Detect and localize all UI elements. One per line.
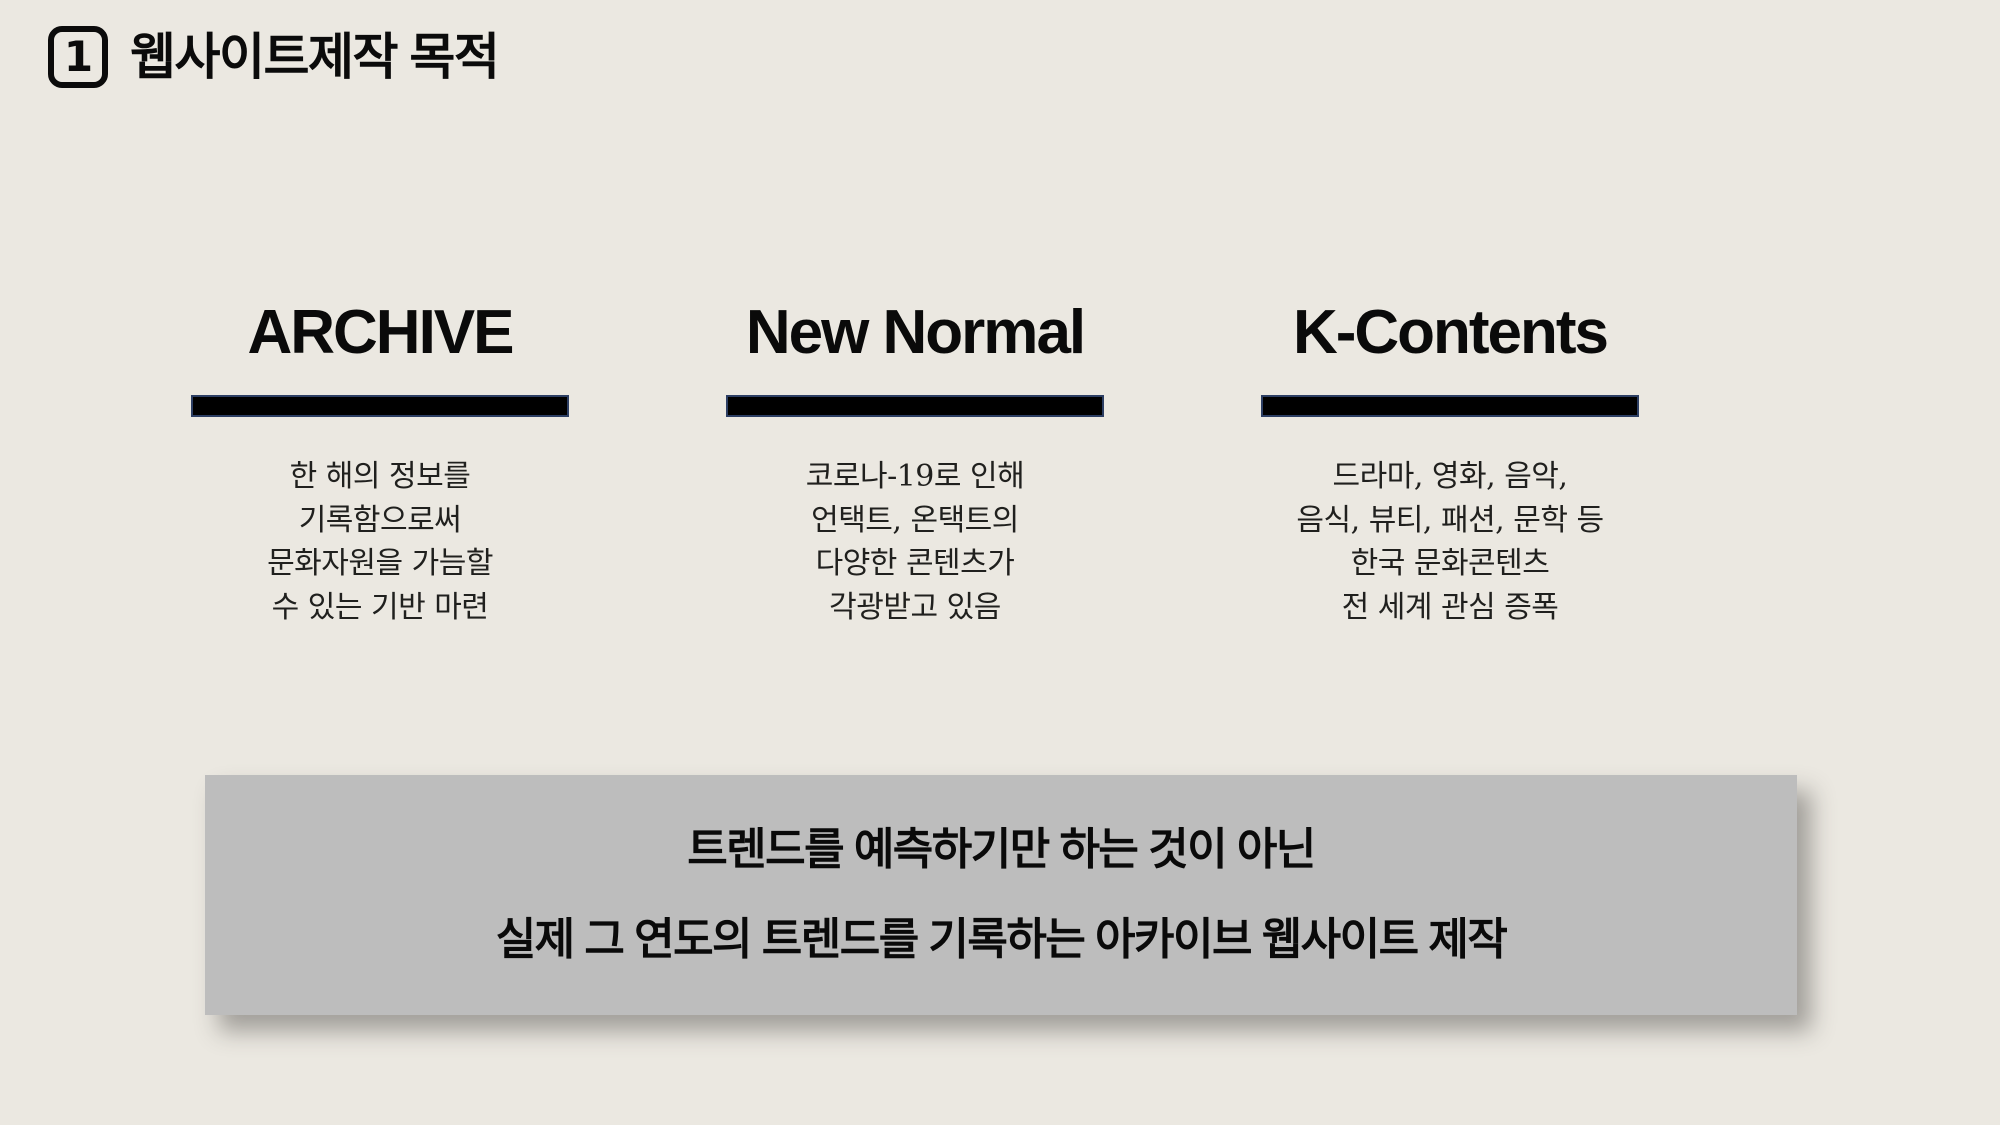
pillar-title: ARCHIVE (247, 300, 512, 365)
pillar-description: 코로나-19로 인해 언택트, 온택트의 다양한 콘텐츠가 각광받고 있음 (806, 455, 1024, 629)
conclusion-banner: 트렌드를 예측하기만 하는 것이 아닌 실제 그 연도의 트렌드를 기록하는 아… (205, 775, 1797, 1015)
slide-header: 1 웹사이트제작 목적 (48, 26, 498, 88)
step-number-label: 1 (64, 36, 92, 78)
page-title: 웹사이트제작 목적 (130, 30, 498, 85)
pillar-description: 드라마, 영화, 음악, 음식, 뷰티, 패션, 문학 등 한국 문화콘텐츠 전… (1296, 455, 1603, 629)
pillar-columns: ARCHIVE 한 해의 정보를 기록함으로써 문화자원을 가늠할 수 있는 기… (170, 300, 1660, 629)
step-number-badge: 1 (48, 26, 108, 88)
pillar-description: 한 해의 정보를 기록함으로써 문화자원을 가늠할 수 있는 기반 마련 (267, 455, 493, 629)
pillar-underline-bar (726, 395, 1104, 417)
conclusion-line-2: 실제 그 연도의 트렌드를 기록하는 아카이브 웹사이트 제작 (496, 916, 1507, 964)
pillar-new-normal: New Normal 코로나-19로 인해 언택트, 온택트의 다양한 콘텐츠가… (705, 300, 1125, 629)
pillar-title: New Normal (746, 300, 1084, 365)
pillar-k-contents: K-Contents 드라마, 영화, 음악, 음식, 뷰티, 패션, 문학 등… (1240, 300, 1660, 629)
pillar-underline-bar (191, 395, 569, 417)
pillar-title: K-Contents (1293, 300, 1607, 365)
pillar-archive: ARCHIVE 한 해의 정보를 기록함으로써 문화자원을 가늠할 수 있는 기… (170, 300, 590, 629)
conclusion-line-1: 트렌드를 예측하기만 하는 것이 아닌 (687, 826, 1315, 874)
pillar-underline-bar (1261, 395, 1639, 417)
